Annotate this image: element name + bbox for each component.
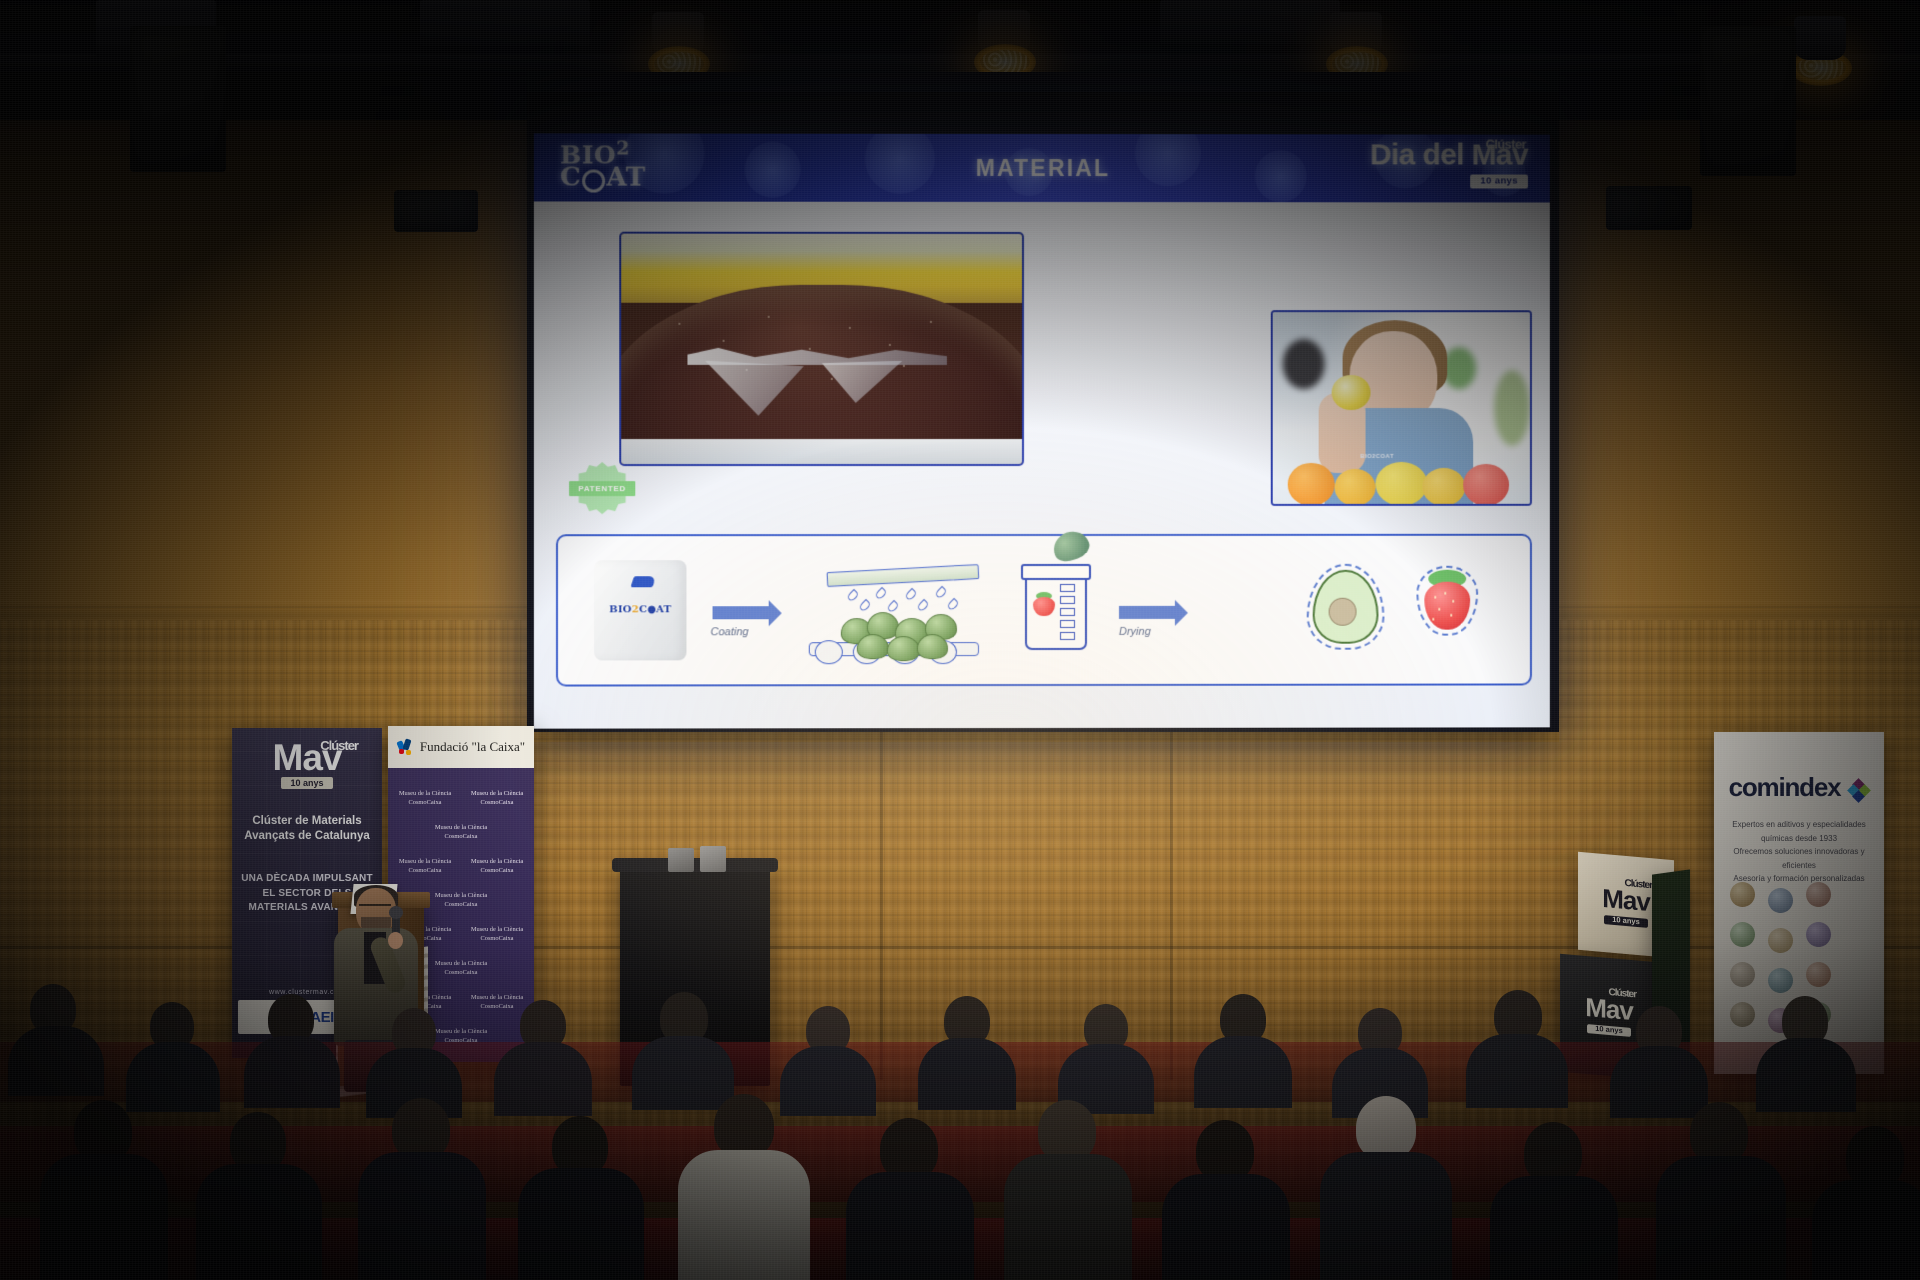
conference-photo: BIO2 CAT MATERIAL Dia del Mav Clúster 10… — [0, 0, 1920, 1280]
